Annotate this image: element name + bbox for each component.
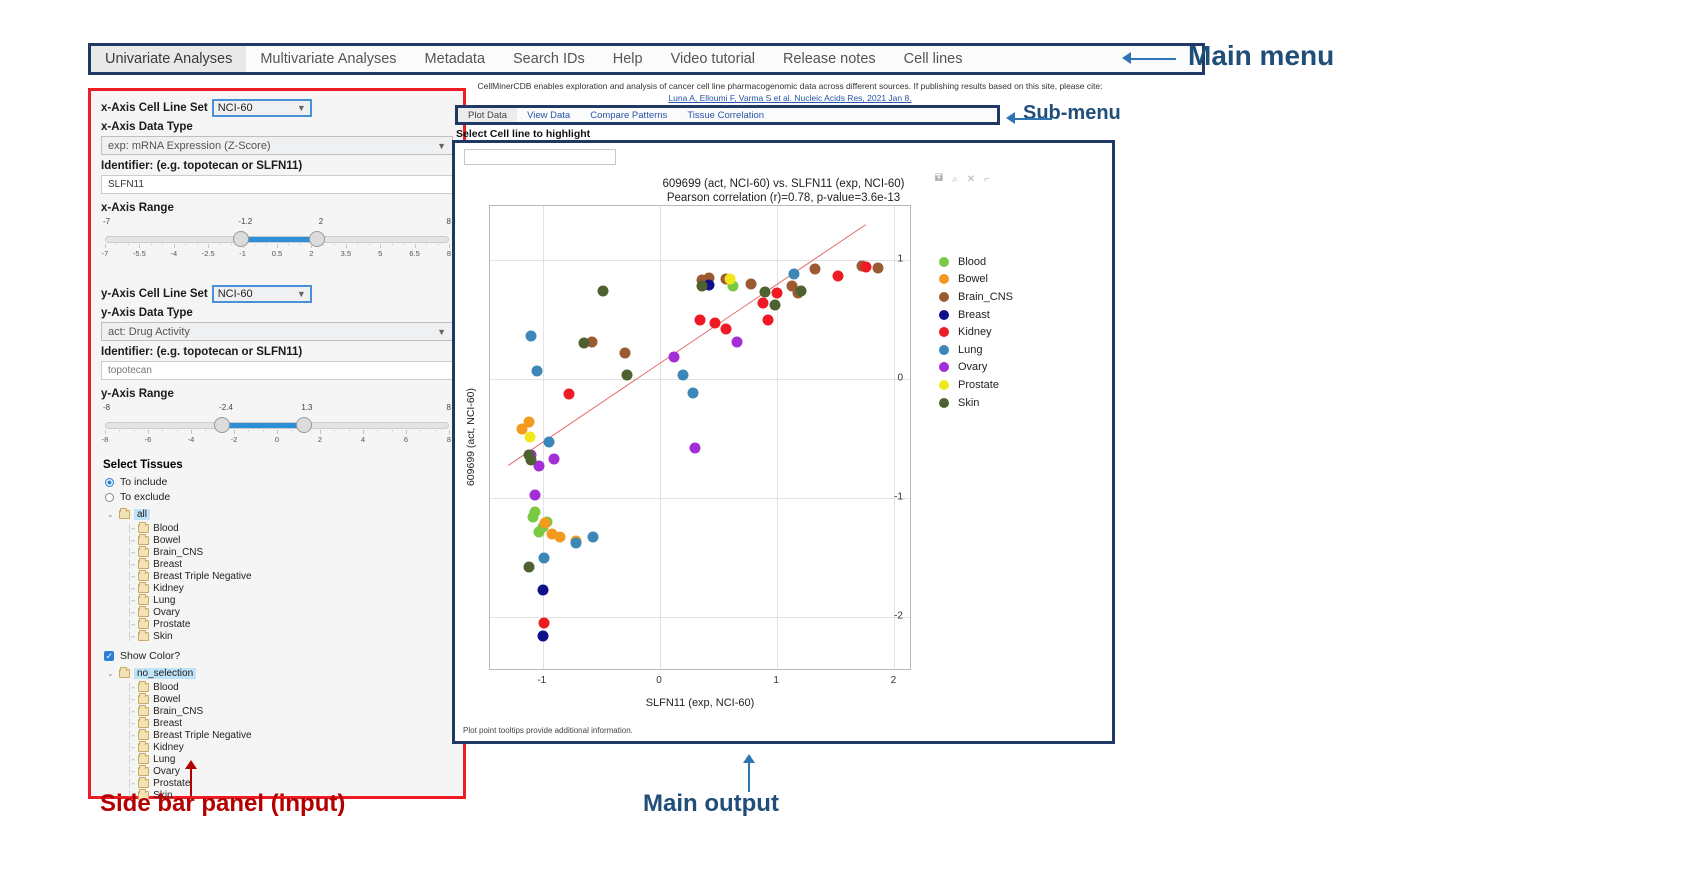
scatter-point[interactable] — [538, 552, 549, 563]
scatter-point[interactable] — [537, 584, 548, 595]
slider-minor-tickmark — [420, 430, 421, 432]
menu-item-label: Cell lines — [904, 51, 963, 67]
arrow-sub-menu — [1012, 118, 1052, 120]
tree-connector-icon: ┊-- — [127, 572, 134, 581]
tissue-tree-item[interactable]: ┊--Bowel — [127, 693, 453, 705]
slider-minor-tickmark — [403, 244, 404, 246]
scatter-point[interactable] — [769, 299, 780, 310]
tissue-tree-item-label: Brain_CNS — [153, 706, 203, 717]
legend-item[interactable]: Brain_CNS — [939, 288, 1013, 306]
slider-tick-label: 5 — [378, 249, 382, 258]
tissue-tree-item[interactable]: ┊--Ovary — [127, 606, 453, 618]
slider-tickmark — [363, 430, 364, 434]
legend-item-label: Kidney — [958, 326, 992, 338]
slider-tick-label: 6 — [404, 435, 408, 444]
chevron-down-icon: ▼ — [297, 289, 306, 299]
scatter-point[interactable] — [710, 317, 721, 328]
folder-icon — [138, 683, 149, 692]
arrow-sidebar — [190, 768, 192, 796]
y-axis-range-label: y-Axis Range — [101, 388, 453, 400]
tissue-tree-item[interactable]: ┊--Brain_CNS — [127, 705, 453, 717]
tissue-tree-item[interactable]: ┊--Breast Triple Negative — [127, 729, 453, 741]
slider-tick-label: -7 — [102, 249, 109, 258]
x-axis-range-label: x-Axis Range — [101, 202, 453, 214]
y-axis-cell-line-set-label: y-Axis Cell Line Set — [101, 288, 208, 300]
tissue-tree-item[interactable]: ┊--Kidney — [127, 582, 453, 594]
x-axis-data-type-select[interactable]: exp: mRNA Expression (Z-Score) ▼ — [101, 136, 453, 155]
slider-tickmark — [346, 244, 347, 248]
scatter-point[interactable] — [531, 365, 542, 376]
legend-color-swatch — [939, 345, 949, 355]
tissue-tree-item[interactable]: ┊--Ovary — [127, 765, 453, 777]
tissue-tree-item[interactable]: ┊--Brain_CNS — [127, 546, 453, 558]
scatter-point[interactable] — [732, 336, 743, 347]
menu-item-search-ids[interactable]: Search IDs — [499, 46, 599, 72]
menu-item-video-tutorial[interactable]: Video tutorial — [657, 46, 769, 72]
scatter-point[interactable] — [720, 323, 731, 334]
slider-tickmark — [208, 244, 209, 248]
submenu-item-label: View Data — [527, 110, 570, 121]
plot-area: 10-1-2-1012 SLFN11 (exp, NCI-60) 609699 … — [489, 205, 1119, 735]
arrowhead-sidebar — [185, 760, 197, 769]
tissue-tree-item-label: Lung — [153, 595, 175, 606]
tissue-tree-item-label: Ovary — [153, 766, 180, 777]
tissue-tree-item-label: Blood — [153, 523, 179, 534]
gridline-vertical — [660, 206, 661, 669]
folder-icon — [138, 779, 149, 788]
scatter-point[interactable] — [619, 347, 630, 358]
tissue-tree-item-label: Kidney — [153, 742, 184, 753]
tissue-tree-item[interactable]: ┊--Lung — [127, 753, 453, 765]
submenu-item-label: Plot Data — [468, 110, 507, 121]
legend-color-swatch — [939, 274, 949, 284]
tissues-exclude-radio-row[interactable]: To exclude — [105, 491, 453, 503]
slider-minor-tickmark — [334, 430, 335, 432]
slider-tick-label: 8 — [447, 249, 451, 258]
slider-minor-tickmark — [438, 244, 439, 246]
folder-icon — [138, 719, 149, 728]
menu-item-label: Release notes — [783, 51, 876, 67]
tissue-tree-item[interactable]: ┊--Breast — [127, 717, 453, 729]
scatter-point[interactable] — [760, 286, 771, 297]
gridline-horizontal — [490, 379, 910, 380]
y-axis-title: 609699 (act, NCI-60) — [465, 388, 477, 486]
tissue-tree-item[interactable]: ┊--Kidney — [127, 741, 453, 753]
tissue-tree-item[interactable]: ┊--Prostate — [127, 777, 453, 789]
tissue-tree-item-label: Breast Triple Negative — [153, 730, 251, 741]
expander-icon[interactable]: ⌄ — [107, 510, 115, 519]
folder-icon — [138, 560, 149, 569]
slider-tick-label: -6 — [145, 435, 152, 444]
x-tick-label: 2 — [891, 675, 897, 686]
y-axis-range-min: -8 — [103, 403, 110, 412]
x-axis-handle-low-value: -1.2 — [238, 217, 252, 226]
menu-item-release-notes[interactable]: Release notes — [769, 46, 890, 72]
tissue-tree-item-label: Lung — [153, 754, 175, 765]
slider-fill — [226, 423, 305, 428]
tissue-tree-item[interactable]: ┊--Bowel — [127, 534, 453, 546]
scatter-point[interactable] — [524, 432, 535, 443]
tissue-tree-item-label: Breast — [153, 718, 182, 729]
legend-item-label: Brain_CNS — [958, 291, 1013, 303]
scatter-point[interactable] — [526, 454, 537, 465]
x-tick-label: 1 — [773, 675, 779, 686]
gridline-vertical — [777, 206, 778, 669]
menu-item-multivariate-analyses[interactable]: Multivariate Analyses — [246, 46, 410, 72]
slider-minor-tickmark — [377, 430, 378, 432]
highlight-tree-root[interactable]: ⌄ no_selection — [107, 668, 453, 679]
slider-tick-label: -4 — [188, 435, 195, 444]
menu-item-cell-lines[interactable]: Cell lines — [890, 46, 977, 72]
slider-tickmark — [320, 430, 321, 434]
folder-icon — [138, 536, 149, 545]
slider-minor-tickmark — [151, 244, 152, 246]
slider-minor-tickmark — [116, 244, 117, 246]
slider-minor-tickmark — [334, 244, 335, 246]
arrowhead-sub-menu — [1006, 112, 1015, 124]
menu-item-metadata[interactable]: Metadata — [411, 46, 499, 72]
slider-tickmark — [311, 244, 312, 248]
slider-minor-tickmark — [205, 430, 206, 432]
sidebar-panel: x-Axis Cell Line Set NCI-60 ▼ x-Axis Dat… — [88, 88, 466, 799]
scatter-point[interactable] — [788, 268, 799, 279]
slider-minor-tickmark — [263, 430, 264, 432]
legend-item[interactable]: Bowel — [939, 271, 1013, 289]
scatter-point[interactable] — [549, 453, 560, 464]
scatter-point[interactable] — [772, 288, 783, 299]
x-axis-data-type-value: exp: mRNA Expression (Z-Score) — [108, 140, 271, 152]
slider-minor-tickmark — [220, 244, 221, 246]
slider-tickmark — [105, 244, 106, 248]
slider-minor-tickmark — [306, 430, 307, 432]
legend-item[interactable]: Skin — [939, 394, 1013, 412]
scatter-point[interactable] — [690, 443, 701, 454]
scatter-point[interactable] — [687, 388, 698, 399]
slider-tickmark — [406, 430, 407, 434]
tissue-tree-item[interactable]: ┊--Prostate — [127, 618, 453, 630]
plot-legend: BloodBowelBrain_CNSBreastKidneyLungOvary… — [939, 253, 1013, 411]
slider-tickmark — [105, 430, 106, 434]
tree-connector-icon: ┊-- — [127, 779, 134, 788]
expander-icon[interactable]: ⌄ — [107, 669, 115, 678]
annotation-sidebar: Side bar panel (input) — [100, 790, 345, 818]
legend-color-swatch — [939, 257, 949, 267]
slider-minor-tickmark — [392, 244, 393, 246]
plot-title: 609699 (act, NCI-60) vs. SLFN11 (exp, NC… — [455, 177, 1112, 206]
slider-minor-tickmark — [248, 430, 249, 432]
scatter-point[interactable] — [588, 532, 599, 543]
chevron-down-icon: ▼ — [437, 141, 446, 151]
scatter-point[interactable] — [570, 538, 581, 549]
y-axis-identifier-input[interactable]: topotecan — [101, 361, 453, 380]
legend-item[interactable]: Lung — [939, 341, 1013, 359]
legend-item[interactable]: Prostate — [939, 376, 1013, 394]
legend-item[interactable]: Ovary — [939, 359, 1013, 377]
tissue-tree-item[interactable]: ┊--Blood — [127, 681, 453, 693]
legend-item-label: Breast — [958, 309, 990, 321]
arrowhead-main-output — [743, 754, 755, 763]
slider-tick-label: -8 — [102, 435, 109, 444]
folder-icon — [138, 620, 149, 629]
scatter-point[interactable] — [669, 352, 680, 363]
y-axis-data-type-value: act: Drug Activity — [108, 326, 190, 338]
scatter-point[interactable] — [563, 389, 574, 400]
tree-connector-icon: ┊-- — [127, 620, 134, 629]
scatter-point[interactable] — [762, 315, 773, 326]
slider-minor-tickmark — [357, 244, 358, 246]
folder-icon — [119, 510, 130, 519]
scatter-point[interactable] — [678, 370, 689, 381]
y-tick-label: 0 — [897, 372, 903, 383]
citation-line-1: CellMinerCDB enables exploration and ana… — [470, 80, 1110, 92]
submenu-item-view-data[interactable]: View Data — [517, 108, 580, 122]
slider-tick-label: 6.5 — [409, 249, 419, 258]
scatter-point[interactable] — [833, 271, 844, 282]
x-axis-title: SLFN11 (exp, NCI-60) — [489, 697, 911, 709]
legend-item-label: Lung — [958, 344, 982, 356]
slider-minor-tickmark — [392, 430, 393, 432]
x-tick-label: -1 — [537, 675, 546, 686]
tissue-tree-root-label: all — [134, 509, 150, 520]
y-tick-label: -2 — [894, 611, 903, 622]
x-axis-cell-line-set-value: NCI-60 — [218, 102, 253, 114]
slider-minor-tickmark — [369, 244, 370, 246]
slider-minor-tickmark — [288, 244, 289, 246]
tissue-tree-item[interactable]: ┊--Breast Triple Negative — [127, 570, 453, 582]
legend-item-label: Blood — [958, 256, 986, 268]
menu-item-help[interactable]: Help — [599, 46, 657, 72]
folder-icon — [119, 669, 130, 678]
legend-item[interactable]: Breast — [939, 306, 1013, 324]
radio-include-icon[interactable] — [105, 478, 114, 487]
slider-tick-label: -4 — [170, 249, 177, 258]
slider-minor-tickmark — [128, 244, 129, 246]
citation-link[interactable]: Luna A, Elloumi F, Varma S et al. Nuclei… — [668, 93, 911, 103]
slider-minor-tickmark — [291, 430, 292, 432]
legend-item[interactable]: Kidney — [939, 323, 1013, 341]
menu-item-label: Metadata — [425, 51, 485, 67]
folder-icon — [138, 584, 149, 593]
x-axis-cell-line-set-select[interactable]: NCI-60 ▼ — [212, 99, 312, 117]
slider-minor-tickmark — [134, 430, 135, 432]
main-output-panel: 🖬 ⌕ ✕ ⌐ 609699 (act, NCI-60) vs. SLFN11 … — [452, 140, 1115, 744]
slider-tick-label: 0 — [275, 435, 279, 444]
slider-minor-tickmark — [220, 430, 221, 432]
plot-title-main: 609699 (act, NCI-60) vs. SLFN11 (exp, NC… — [455, 177, 1112, 191]
y-axis-range-slider[interactable]: -8 8 -2.4 1.3 -8-6-4-202468 — [101, 403, 453, 449]
slider-minor-tickmark — [185, 244, 186, 246]
scatter-point[interactable] — [555, 532, 566, 543]
gridline-horizontal — [490, 260, 910, 261]
scatter-point[interactable] — [861, 261, 872, 272]
scatter-point[interactable] — [809, 264, 820, 275]
legend-color-swatch — [939, 398, 949, 408]
folder-icon — [138, 695, 149, 704]
tissue-tree-item-label: Prostate — [153, 619, 190, 630]
folder-icon — [138, 632, 149, 641]
highlight-tree-root-label: no_selection — [134, 668, 196, 679]
tissue-tree-item-label: Blood — [153, 682, 179, 693]
show-color-checkbox[interactable] — [104, 651, 114, 661]
tree-connector-icon: ┊-- — [127, 524, 134, 533]
submenu-item-compare-patterns[interactable]: Compare Patterns — [580, 108, 677, 122]
show-color-row[interactable]: Show Color? — [104, 650, 453, 662]
annotation-sub-menu: Sub-menu — [1023, 102, 1121, 125]
legend-item-label: Skin — [958, 397, 979, 409]
radio-exclude-icon[interactable] — [105, 493, 114, 502]
tissue-tree-item-label: Kidney — [153, 583, 184, 594]
scatter-point[interactable] — [725, 273, 736, 284]
submenu-item-label: Tissue Correlation — [687, 110, 764, 121]
tissue-tree-item-label: Ovary — [153, 607, 180, 618]
select-cell-line-label: Select Cell line to highlight — [456, 128, 590, 140]
tree-connector-icon: ┊-- — [127, 707, 134, 716]
tree-connector-icon: ┊-- — [127, 755, 134, 764]
tree-connector-icon: ┊-- — [127, 536, 134, 545]
slider-tick-label: 3.5 — [341, 249, 351, 258]
gridline-vertical — [894, 206, 895, 669]
scatter-point[interactable] — [873, 263, 884, 274]
tissue-tree-include: ⌄ all ┊--Blood┊--Bowel┊--Brain_CNS┊--Bre… — [107, 509, 453, 642]
main-menu: Univariate Analyses Multivariate Analyse… — [88, 43, 1205, 75]
scatter-point[interactable] — [578, 338, 589, 349]
cell-line-highlight-input[interactable] — [464, 149, 616, 165]
x-axis-range-min: -7 — [103, 217, 110, 226]
tissue-tree-item-label: Brain_CNS — [153, 547, 203, 558]
arrowhead-main-menu — [1122, 52, 1131, 64]
y-axis-cell-line-set-select[interactable]: NCI-60 ▼ — [212, 285, 312, 303]
submenu-item-plot-data[interactable]: Plot Data — [458, 108, 517, 122]
slider-tick-label: -5.5 — [133, 249, 146, 258]
menu-item-univariate-analyses[interactable]: Univariate Analyses — [91, 46, 246, 72]
scatter-point[interactable] — [537, 631, 548, 642]
folder-icon — [138, 707, 149, 716]
slider-minor-tickmark — [119, 430, 120, 432]
scatter-point[interactable] — [758, 297, 769, 308]
slider-tickmark — [277, 244, 278, 248]
scatter-point[interactable] — [526, 330, 537, 341]
slider-tickmark — [415, 244, 416, 248]
plot-title-subtitle: Pearson correlation (r)=0.78, p-value=3.… — [455, 191, 1112, 205]
folder-icon — [138, 755, 149, 764]
slider-tick-label: 2 — [318, 435, 322, 444]
slider-tick-label: -2 — [231, 435, 238, 444]
folder-icon — [138, 608, 149, 617]
y-axis-data-type-select[interactable]: act: Drug Activity ▼ — [101, 322, 453, 341]
arrow-main-output — [748, 762, 750, 792]
tree-connector-icon: ┊-- — [127, 743, 134, 752]
tissues-include-radio-row[interactable]: To include — [105, 476, 453, 488]
slider-tickmark — [234, 430, 235, 434]
tree-connector-icon: ┊-- — [127, 731, 134, 740]
tree-connector-icon: ┊-- — [127, 767, 134, 776]
tissue-tree-item[interactable]: ┊--Lung — [127, 594, 453, 606]
y-tick-label: -1 — [894, 492, 903, 503]
legend-item-label: Prostate — [958, 379, 999, 391]
annotation-main-output: Main output — [643, 790, 779, 818]
menu-item-label: Search IDs — [513, 51, 585, 67]
folder-icon — [138, 767, 149, 776]
tree-connector-icon: ┊-- — [127, 596, 134, 605]
tissue-tree-item[interactable]: ┊--Blood — [127, 522, 453, 534]
legend-item[interactable]: Blood — [939, 253, 1013, 271]
tissue-tree-item-label: Bowel — [153, 694, 180, 705]
submenu-item-label: Compare Patterns — [590, 110, 667, 121]
tissue-tree-item-label: Skin — [153, 631, 172, 642]
scatter-point[interactable] — [540, 518, 551, 529]
x-axis-range-slider[interactable]: -7 8 -1.2 2 -7-5.5-4-2.5-10.523.556.58 — [101, 217, 453, 263]
slider-tickmark — [449, 430, 450, 434]
slider-minor-tickmark — [177, 430, 178, 432]
scatter-point[interactable] — [597, 285, 608, 296]
scatter-point[interactable] — [697, 280, 708, 291]
scatter-point[interactable] — [622, 370, 633, 381]
tissue-tree-item[interactable]: ┊--Skin — [127, 630, 453, 642]
tree-connector-icon: ┊-- — [127, 695, 134, 704]
tissue-tree-root[interactable]: ⌄ all — [107, 509, 453, 520]
x-axis-slider-ticks: -7-5.5-4-2.5-10.523.556.58 — [105, 244, 449, 258]
y-axis-range-max: 8 — [447, 403, 451, 412]
scatter-point[interactable] — [694, 315, 705, 326]
tissue-tree-item[interactable]: ┊--Breast — [127, 558, 453, 570]
slider-tick-label: 2 — [309, 249, 313, 258]
scatter-point[interactable] — [538, 618, 549, 629]
y-axis-slider-ticks: -8-6-4-202468 — [105, 430, 449, 444]
x-axis-identifier-input[interactable]: SLFN11 — [101, 175, 453, 194]
legend-color-swatch — [939, 327, 949, 337]
menu-item-label: Multivariate Analyses — [260, 51, 396, 67]
tree-connector-icon: ┊-- — [127, 584, 134, 593]
plot-axes[interactable] — [489, 205, 911, 670]
chevron-down-icon: ▼ — [297, 103, 306, 113]
legend-color-swatch — [939, 362, 949, 372]
tissue-tree-item-label: Breast — [153, 559, 182, 570]
tree-connector-icon: ┊-- — [127, 632, 134, 641]
slider-minor-tickmark — [323, 244, 324, 246]
show-color-label: Show Color? — [120, 650, 180, 662]
tree-connector-icon: ┊-- — [127, 608, 134, 617]
menu-item-label: Help — [613, 51, 643, 67]
scatter-point[interactable] — [543, 437, 554, 448]
tree-connector-icon: ┊-- — [127, 548, 134, 557]
x-axis-handle-high-value: 2 — [319, 217, 323, 226]
submenu-item-tissue-correlation[interactable]: Tissue Correlation — [677, 108, 774, 122]
scatter-point[interactable] — [529, 489, 540, 500]
select-tissues-heading: Select Tissues — [103, 459, 453, 471]
slider-minor-tickmark — [162, 244, 163, 246]
scatter-point[interactable] — [746, 278, 757, 289]
y-axis-identifier-label: Identifier: (e.g. topotecan or SLFN11) — [101, 346, 453, 358]
x-axis-range-max: 8 — [447, 217, 451, 226]
slider-tick-label: 0.5 — [272, 249, 282, 258]
tissue-tree-item-label: Prostate — [153, 778, 190, 789]
x-tick-label: 0 — [656, 675, 662, 686]
arrow-main-menu — [1128, 58, 1176, 60]
folder-icon — [138, 548, 149, 557]
slider-tickmark — [174, 244, 175, 248]
scatter-point[interactable] — [523, 562, 534, 573]
scatter-point[interactable] — [523, 416, 534, 427]
folder-icon — [138, 572, 149, 581]
scatter-point[interactable] — [529, 507, 540, 518]
gridline-horizontal — [490, 617, 910, 618]
x-axis-identifier-label: Identifier: (e.g. topotecan or SLFN11) — [101, 160, 453, 172]
slider-minor-tickmark — [162, 430, 163, 432]
slider-minor-tickmark — [197, 244, 198, 246]
slider-fill — [245, 237, 315, 242]
x-axis-identifier-value: SLFN11 — [108, 179, 144, 190]
scatter-point[interactable] — [795, 285, 806, 296]
